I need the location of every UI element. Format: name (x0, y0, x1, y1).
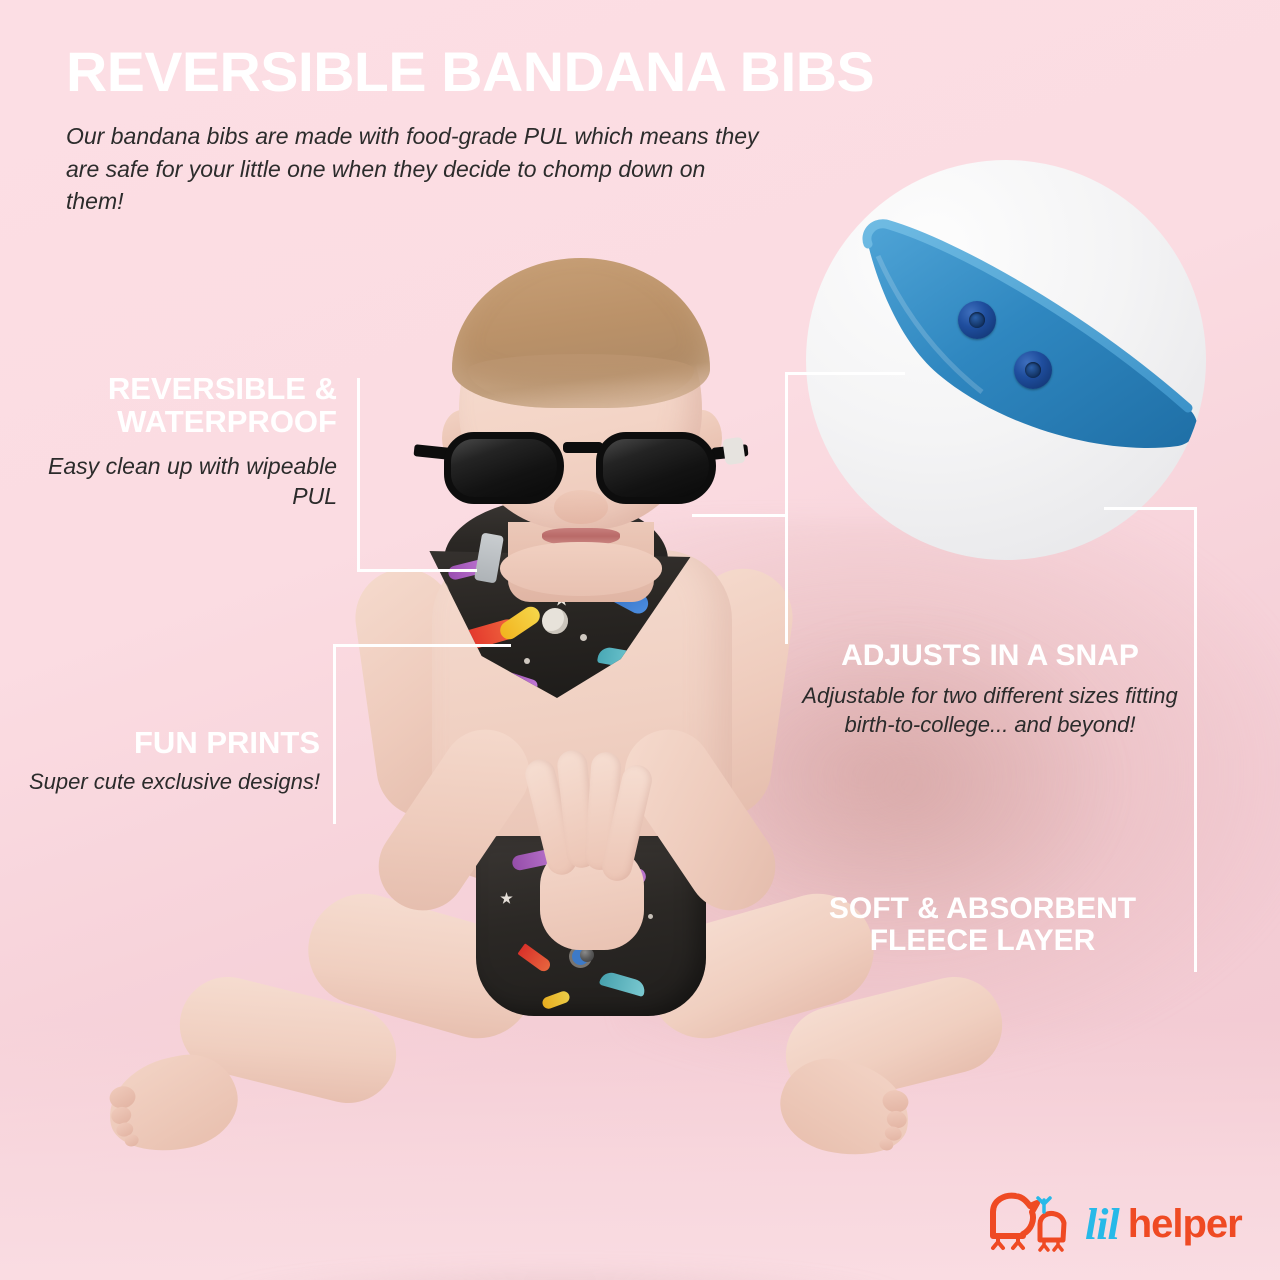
diaper-snap (580, 948, 594, 962)
inset-photo-fleece-snaps (806, 160, 1206, 560)
connector-reversible-horizontal (357, 569, 477, 572)
brand-name-bold: helper (1128, 1202, 1242, 1247)
bird-logo-icon (985, 1190, 1081, 1256)
feature-heading: SOFT & ABSORBENT FLEECE LAYER (780, 893, 1185, 958)
baby-hair (452, 258, 710, 408)
connector-snap-horizontal (692, 514, 787, 517)
sunglasses-icon (438, 426, 724, 512)
connector-fleece-horizontal (1104, 507, 1197, 510)
feature-body: Super cute exclusive designs! (0, 767, 330, 796)
feature-heading: REVERSIBLE & WATERPROOF (0, 372, 345, 439)
blue-fleece-bib-shape (806, 160, 1206, 560)
feature-body: Easy clean up with wipeable PUL (0, 451, 345, 512)
connector-prints-vertical (333, 644, 336, 824)
feature-body: Adjustable for two different sizes fitti… (790, 681, 1190, 739)
feature-reversible-waterproof: REVERSIBLE & WATERPROOF Easy clean up wi… (0, 372, 345, 512)
feature-adjusts-in-a-snap: ADJUSTS IN A SNAP Adjustable for two dif… (790, 640, 1190, 739)
feature-heading: ADJUSTS IN A SNAP (790, 640, 1190, 672)
snap-button-lower (1014, 351, 1052, 389)
feature-fun-prints: FUN PRINTS Super cute exclusive designs! (0, 726, 330, 797)
connector-prints-horizontal (333, 644, 511, 647)
connector-fleece-vertical (1194, 507, 1197, 972)
brand-wordmark: lil helper (1085, 1196, 1242, 1252)
infographic-canvas: REVERSIBLE BANDANA BIBS Our bandana bibs… (0, 0, 1280, 1280)
connector-snap-top-horizontal (785, 372, 905, 375)
brand-name-script: lil (1085, 1199, 1119, 1250)
baby-chin (500, 542, 662, 596)
page-title: REVERSIBLE BANDANA BIBS (66, 44, 874, 100)
feature-heading: FUN PRINTS (0, 726, 330, 759)
snap-button-upper (958, 301, 996, 339)
baby-clapping-hands (500, 750, 670, 950)
feature-soft-absorbent-fleece: SOFT & ABSORBENT FLEECE LAYER (780, 893, 1185, 958)
brand-logo[interactable]: lil helper (985, 1190, 1250, 1262)
connector-reversible-vertical (357, 378, 360, 572)
connector-snap-vertical (785, 372, 788, 644)
page-subtitle: Our bandana bibs are made with food-grad… (66, 120, 766, 218)
